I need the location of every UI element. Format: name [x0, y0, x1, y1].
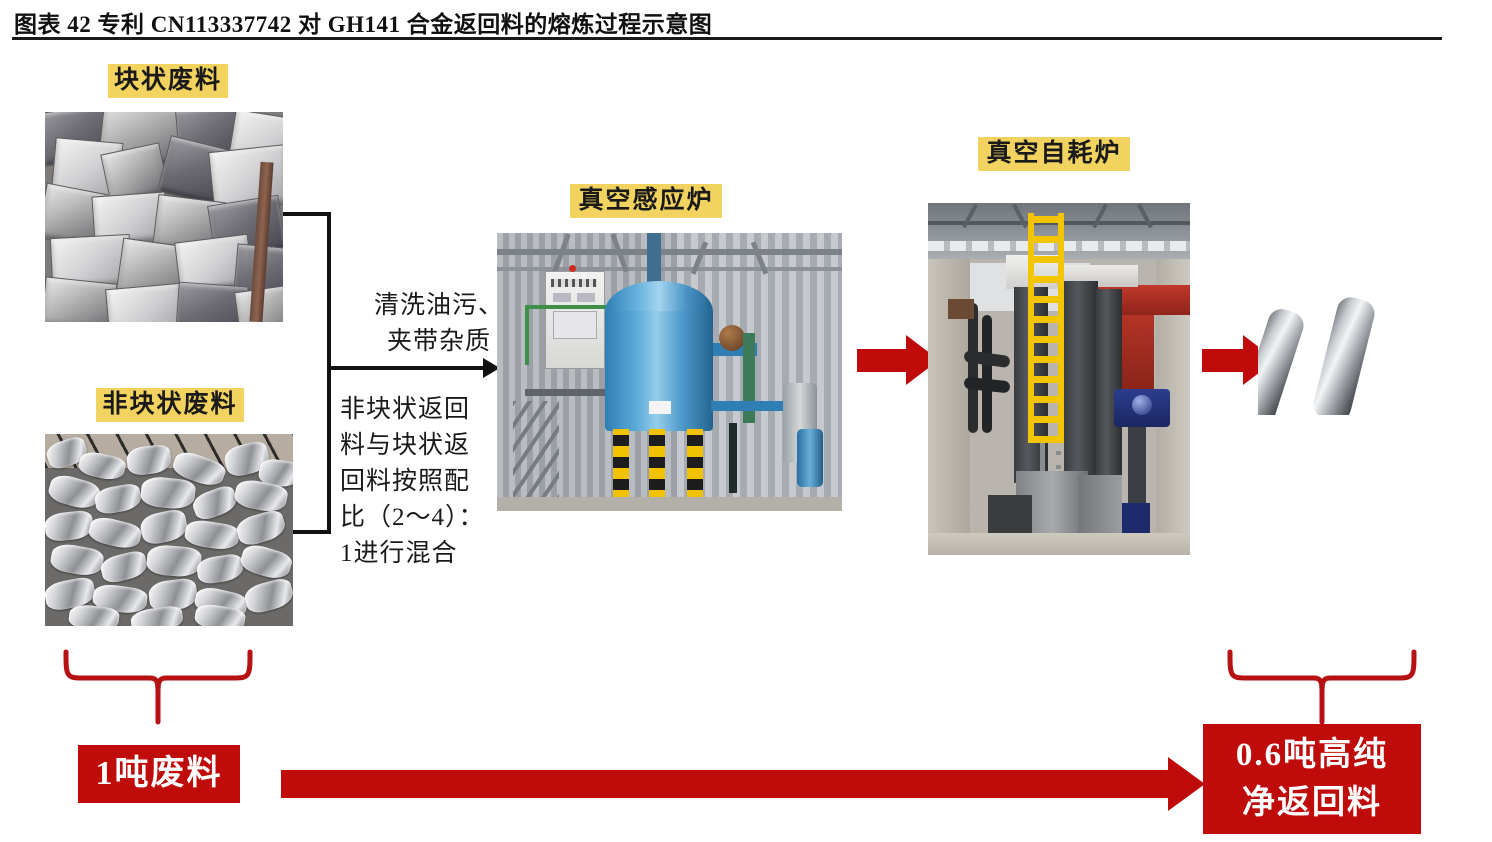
arrow-right-icon-to-arc-furnace	[857, 349, 909, 372]
connector-arrow-shaft	[327, 366, 485, 370]
photo-block-scrap	[45, 112, 283, 322]
page-title: 图表 42 专利 CN113337742 对 GH141 合金返回料的熔炼过程示…	[14, 5, 712, 39]
label-non-block-scrap: 非块状废料	[96, 388, 244, 422]
connector-top-horizontal	[283, 212, 331, 216]
callout-input: 1吨废料	[78, 745, 240, 803]
title-divider	[12, 37, 1442, 40]
photo-vacuum-arc-furnace	[928, 203, 1190, 555]
flow-arrow-body	[281, 770, 1171, 798]
label-block-scrap: 块状废料	[108, 64, 228, 98]
label-vacuum-arc-furnace: 真空自耗炉	[978, 137, 1130, 171]
photo-non-block-scrap	[45, 434, 293, 626]
title-bar: 图表 42 专利 CN113337742 对 GH141 合金返回料的熔炼过程示…	[0, 0, 1492, 42]
flow-arrow-head-icon	[1168, 757, 1205, 811]
curly-brace-icon-left	[58, 648, 258, 726]
photo-vacuum-induction-furnace	[497, 233, 842, 511]
photo-ingot-rods	[1258, 285, 1458, 415]
diagram-page: 图表 42 专利 CN113337742 对 GH141 合金返回料的熔炼过程示…	[0, 0, 1492, 842]
connector-bottom-horizontal	[293, 530, 331, 534]
connector-vertical	[327, 212, 331, 534]
process-text-mixing: 非块状返回 料与块状返 回料按照配 比（2～4）： 1进行混合	[340, 392, 500, 572]
process-text-cleaning: 清洗油污、 夹带杂质	[359, 288, 519, 360]
callout-output: 0.6吨高纯 净返回料	[1203, 724, 1421, 834]
arrow-right-icon-to-ingots	[1202, 349, 1246, 372]
label-vacuum-induction-furnace: 真空感应炉	[570, 184, 722, 218]
curly-brace-icon-right	[1222, 648, 1422, 726]
